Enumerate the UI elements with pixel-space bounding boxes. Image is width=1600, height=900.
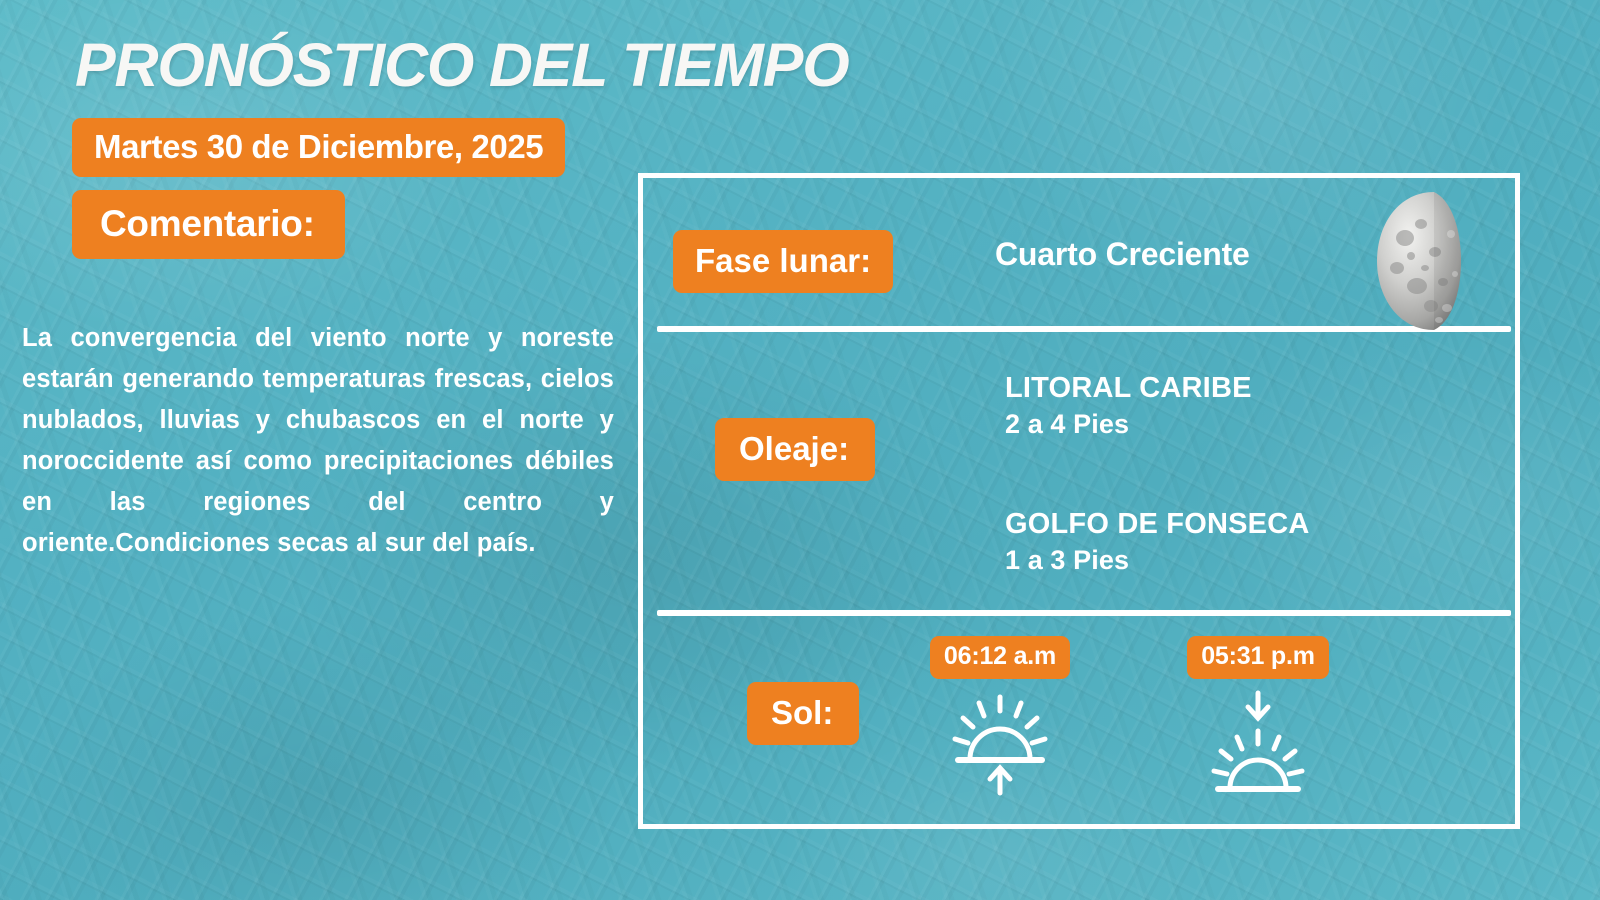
moon-phase-value: Cuarto Creciente — [995, 236, 1250, 273]
panel-divider — [657, 610, 1511, 616]
sunrise-block: 06:12 a.m — [895, 636, 1105, 797]
sunrise-glyph-wrapper — [895, 689, 1105, 797]
page-title: PRONÓSTICO DEL TIEMPO — [75, 30, 849, 100]
swell-region-name: LITORAL CARIBE — [1005, 370, 1505, 406]
sunset-time-badge: 05:31 p.m — [1187, 636, 1329, 679]
comment-label-badge: Comentario: — [72, 190, 345, 259]
comment-body-text: La convergencia del viento norte y nores… — [22, 318, 614, 564]
swell-row: GOLFO DE FONSECA 1 a 3 Pies — [1005, 506, 1505, 578]
sunset-glyph-wrapper — [1153, 689, 1363, 797]
moon-phase-label-badge: Fase lunar: — [673, 230, 893, 293]
swell-height-value: 1 a 3 Pies — [1005, 542, 1505, 578]
swell-row: LITORAL CARIBE 2 a 4 Pies — [1005, 370, 1505, 442]
info-panel: Fase lunar: Cuarto Creciente — [638, 173, 1520, 829]
swell-height-value: 2 a 4 Pies — [1005, 406, 1505, 442]
sunrise-time-badge: 06:12 a.m — [930, 636, 1070, 679]
date-badge: Martes 30 de Diciembre, 2025 — [72, 118, 565, 177]
sun-label-badge: Sol: — [747, 682, 859, 745]
sunrise-icon — [944, 689, 1056, 797]
swell-label-badge: Oleaje: — [715, 418, 875, 481]
sunset-icon — [1202, 689, 1314, 797]
sunset-block: 05:31 p.m — [1153, 636, 1363, 797]
moon-waxing-crescent-icon — [1373, 190, 1495, 332]
swell-region-name: GOLFO DE FONSECA — [1005, 506, 1505, 542]
forecast-graphic: PRONÓSTICO DEL TIEMPO Martes 30 de Dicie… — [0, 0, 1600, 900]
